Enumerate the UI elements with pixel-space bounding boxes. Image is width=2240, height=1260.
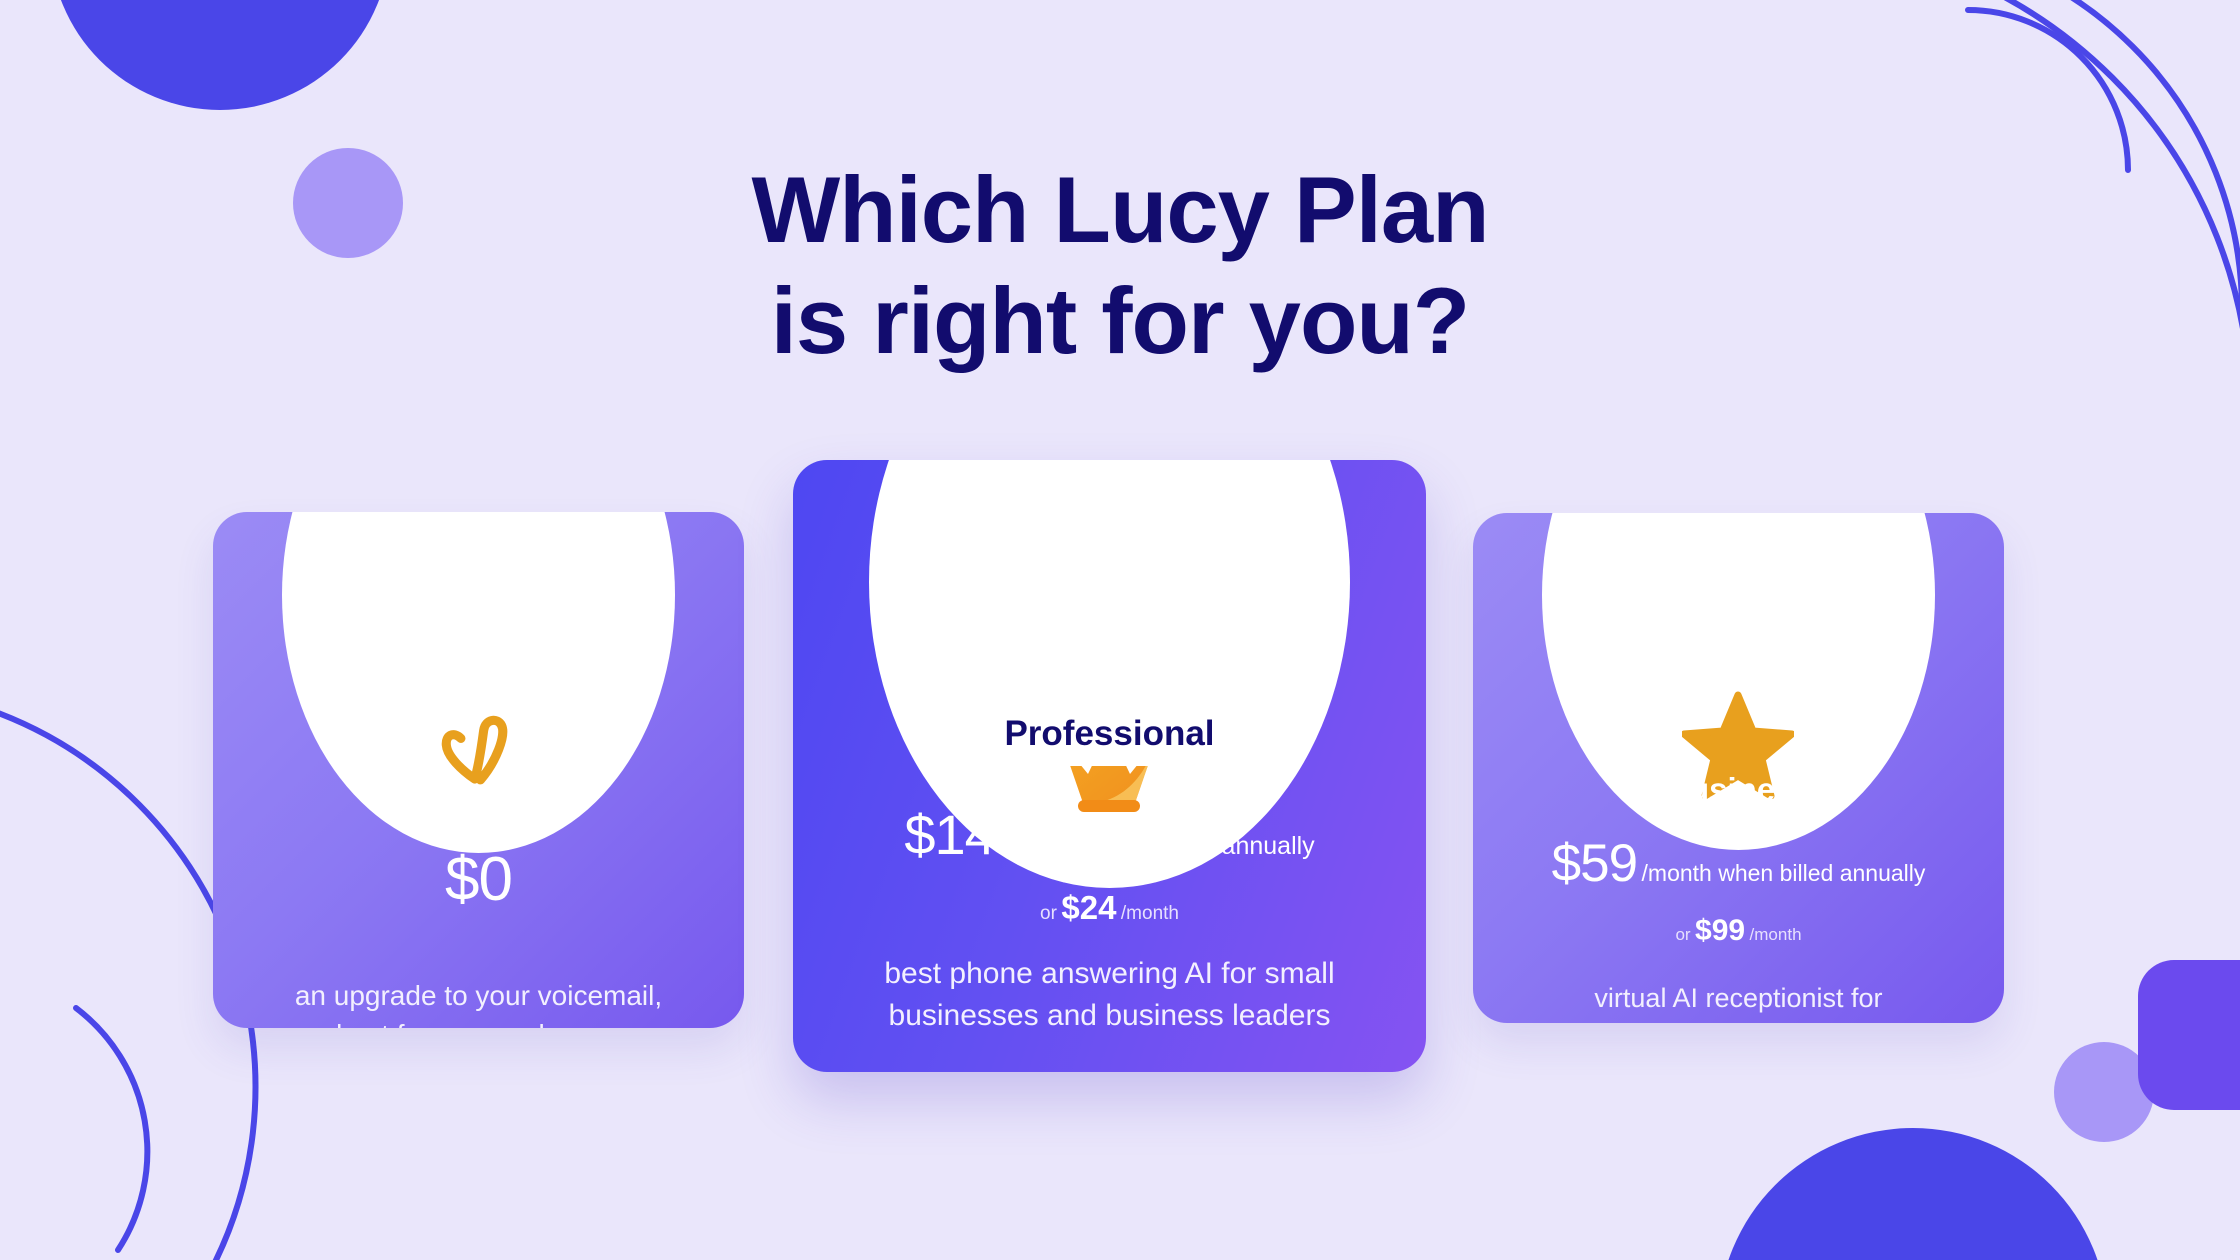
plan-description-line-2: best for personal users	[213, 1016, 744, 1028]
plan-alt-unit-professional: /month	[1121, 903, 1179, 924]
plan-price-unit-professional: / month when billed annually	[999, 832, 1314, 860]
plan-price-business: $59	[1552, 834, 1637, 893]
page-title-line-1: Which Lucy Plan	[0, 155, 2240, 266]
pricing-card-business[interactable]: Business $59 /month when billed annually…	[1473, 513, 2004, 1023]
card-body: Professional $14 / month when billed ann…	[793, 705, 1426, 1037]
plan-alt-price-row-professional: or $24 /month	[793, 889, 1426, 927]
pricing-card-free[interactable]: Free $0 an upgrade to your voicemail, be…	[213, 512, 744, 1028]
blue-circle-top-left-icon	[50, 0, 390, 110]
plan-price-free: $0	[213, 844, 744, 915]
plan-price-row-professional: $14 / month when billed annually	[793, 802, 1426, 867]
plan-alt-price-business: $99	[1695, 914, 1745, 947]
plan-name-professional: Professional	[974, 705, 1244, 766]
plan-price-unit-business: /month when billed annually	[1642, 860, 1926, 886]
plan-description-professional: best phone answering AI for small busine…	[793, 953, 1426, 1037]
pricing-page: Which Lucy Plan is right for you? Free $…	[0, 0, 2240, 1260]
plan-alt-unit-business: /month	[1750, 925, 1802, 944]
plan-description-line-2: businesses and business leaders	[837, 995, 1382, 1037]
page-title-line-2: is right for you?	[0, 266, 2240, 377]
plan-alt-or-professional: or	[1040, 903, 1057, 924]
blue-circle-bottom-right-icon	[1718, 1128, 2108, 1260]
plan-description-line-1: an upgrade to your voicemail,	[213, 977, 744, 1016]
plan-name-business: Business	[1473, 771, 2004, 809]
plan-alt-price-professional: $24	[1061, 889, 1116, 926]
plan-description-line-1: virtual AI receptionist for	[1513, 980, 1964, 1018]
card-body: Business $59 /month when billed annually…	[1473, 771, 2004, 1023]
plan-description-line-1: best phone answering AI for small	[837, 953, 1382, 995]
page-title: Which Lucy Plan is right for you?	[0, 155, 2240, 377]
periwinkle-dot-bottom-right-icon	[2054, 1042, 2154, 1142]
plan-alt-price-row-business: or $99 /month	[1473, 914, 2004, 948]
plan-price-professional: $14	[904, 803, 994, 866]
violet-square-bottom-right-icon	[2138, 960, 2240, 1110]
plan-description-business: virtual AI receptionist for small busine…	[1473, 980, 2004, 1023]
plan-description-free: an upgrade to your voicemail, best for p…	[213, 977, 744, 1028]
plan-description-line-2: small businesses and busy teams	[1513, 1018, 1964, 1023]
plan-name-free: Free	[213, 784, 744, 822]
plan-price-row-business: $59 /month when billed annually	[1473, 833, 2004, 894]
plan-alt-or-business: or	[1675, 925, 1690, 944]
card-body: Free $0 an upgrade to your voicemail, be…	[213, 784, 744, 1028]
pricing-card-professional[interactable]: Professional $14 / month when billed ann…	[793, 460, 1426, 1072]
